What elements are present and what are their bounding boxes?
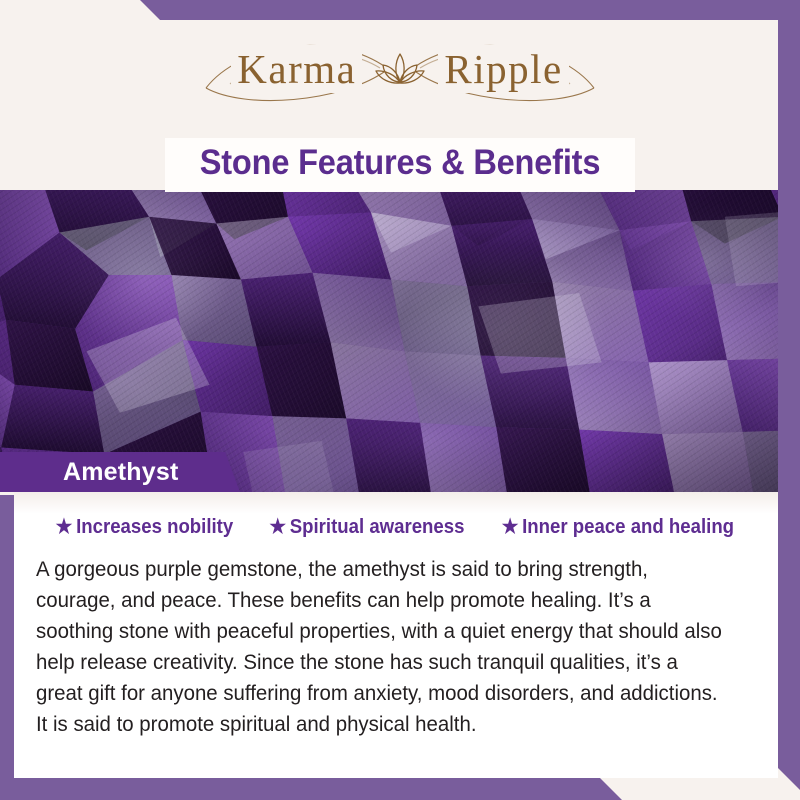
stone-description: A gorgeous purple gemstone, the amethyst… [36,554,726,740]
brand-name-left: Karma [231,45,362,93]
frame-bottom-accent [0,778,800,800]
benefits-list: ★ Increases nobility ★ Spiritual awarene… [14,516,778,539]
amethyst-stone-image [0,190,800,492]
header: Karma Ripple [0,0,800,138]
stone-name-banner: Amethyst [0,452,240,492]
star-icon: ★ [502,517,519,537]
star-icon: ★ [55,517,72,537]
brand-name-right: Ripple [438,45,568,93]
frame-left-accent [0,495,14,785]
benefit-label: Increases nobility [76,516,233,539]
lotus-icon [372,48,428,90]
brand-logo-text: Karma Ripple [231,45,568,93]
benefit-label: Spiritual awareness [289,516,464,539]
benefit-item: ★ Inner peace and healing [502,516,734,539]
content-panel: ★ Increases nobility ★ Spiritual awarene… [14,492,778,778]
benefit-label: Inner peace and healing [523,516,735,539]
page-title: Stone Features & Benefits [28,143,772,183]
brand-logo[interactable]: Karma Ripple [170,26,630,112]
stone-vignette [0,190,800,492]
star-icon: ★ [269,517,286,537]
frame-right-accent [778,0,800,790]
content-top-fade [14,492,778,514]
product-infographic: Amethyst Karma [0,0,800,800]
stone-name-label: Amethyst [0,458,179,487]
benefit-item: ★ Increases nobility [55,516,233,539]
benefit-item: ★ Spiritual awareness [269,516,464,539]
